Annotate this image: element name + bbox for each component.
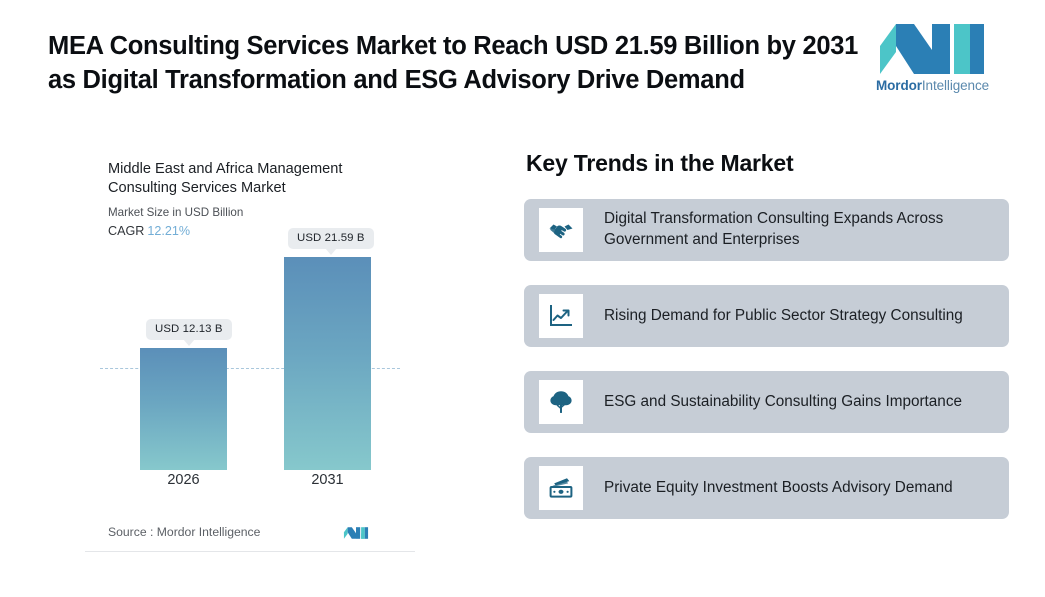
tree-icon [540, 381, 582, 423]
trend-line-2: Demand [895, 479, 953, 496]
chart-title: Middle East and Africa Management Consul… [108, 160, 398, 199]
trend-line-2: Importance [885, 393, 962, 410]
trend-text: Private Equity Investment Boosts Advisor… [604, 478, 953, 499]
handshake-icon [540, 209, 582, 251]
trend-line-1: Digital Transformation Consulting Expand… [604, 210, 893, 227]
logo-word-intelligence: Intelligence [922, 78, 989, 93]
trend-line-1: ESG and Sustainability Consulting Gains [604, 393, 881, 410]
chart-bar-2026 [140, 348, 227, 470]
page-title: MEA Consulting Services Market to Reach … [48, 30, 868, 98]
trend-card-public-sector-strategy[interactable]: Rising Demand for Public Sector Strategy… [524, 285, 1009, 347]
chart-value-label-2026: USD 12.13 B [146, 319, 232, 340]
chart-plot-area: USD 12.13 B USD 21.59 B 2026 2031 [85, 248, 415, 508]
chart-card: Middle East and Africa Management Consul… [85, 148, 415, 552]
cagr-value: 12.21% [147, 224, 190, 238]
growth-chart-icon [540, 295, 582, 337]
trend-card-private-equity[interactable]: Private Equity Investment Boosts Advisor… [524, 457, 1009, 519]
trend-line-1: Rising Demand for Public Sector Strategy [604, 307, 886, 324]
chart-value-label-2031: USD 21.59 B [288, 228, 374, 249]
page-title-line-1: MEA Consulting Services Market to Reach … [48, 30, 868, 64]
key-trends-heading: Key Trends in the Market [526, 150, 1009, 177]
cagr-label: CAGR [108, 224, 144, 238]
trend-text: Rising Demand for Public Sector Strategy… [604, 306, 963, 327]
trend-text: Digital Transformation Consulting Expand… [604, 209, 993, 251]
header: MEA Consulting Services Market to Reach … [0, 0, 1045, 120]
chart-cagr: CAGR12.21% [108, 224, 190, 238]
banknotes-icon [540, 467, 582, 509]
chart-bar-2031 [284, 257, 371, 470]
chart-x-tick-2031: 2031 [284, 472, 371, 488]
trend-line-1: Private Equity Investment Boosts Advisor… [604, 479, 891, 496]
mordor-logo-mark [876, 24, 988, 74]
trend-line-2: Consulting [891, 307, 963, 324]
chart-x-tick-2026: 2026 [140, 472, 227, 488]
trend-text: ESG and Sustainability Consulting Gains … [604, 392, 962, 413]
trend-card-esg-sustainability[interactable]: ESG and Sustainability Consulting Gains … [524, 371, 1009, 433]
mordor-logo-wordmark: MordorIntelligence [876, 78, 996, 93]
chart-subtitle: Market Size in USD Billion [108, 206, 243, 219]
chart-source-label: Source : Mordor Intelligence [108, 525, 260, 539]
page-title-line-2: as Digital Transformation and ESG Adviso… [48, 64, 868, 98]
key-trends-panel: Key Trends in the Market Digital Transfo… [524, 150, 1009, 543]
logo-word-mordor: Mordor [876, 78, 922, 93]
trend-card-digital-transformation[interactable]: Digital Transformation Consulting Expand… [524, 199, 1009, 261]
source-logo-mark [343, 523, 369, 543]
mordor-intelligence-logo: MordorIntelligence [876, 24, 996, 100]
